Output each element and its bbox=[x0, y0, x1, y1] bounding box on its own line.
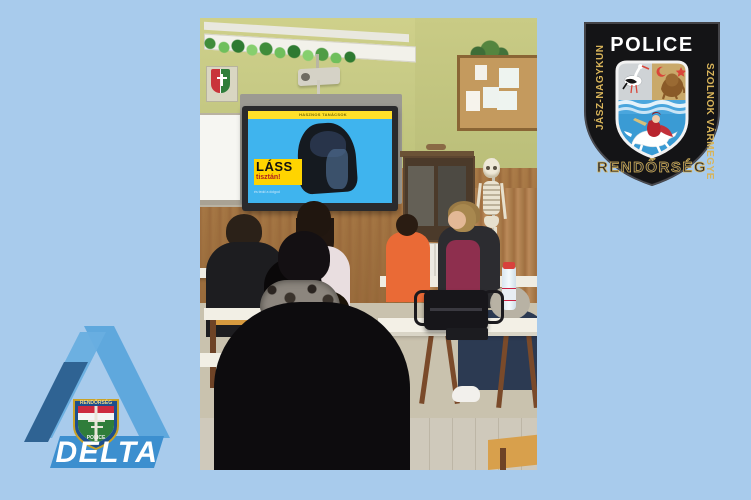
skeleton-eye bbox=[493, 166, 497, 170]
projector-lens-icon bbox=[301, 73, 310, 81]
skeleton-ribcage bbox=[483, 181, 500, 215]
desk-leg bbox=[419, 334, 434, 404]
delta-wordmark: DELTA bbox=[55, 436, 158, 469]
bulletin-poster bbox=[475, 65, 487, 80]
cabinet-top-object bbox=[426, 144, 446, 150]
classroom-presentation-photo: HASZNOS TANÁCSOK LÁSS tisztán! és tedd a… bbox=[200, 18, 537, 470]
chair-leg bbox=[500, 448, 506, 470]
bulletin-poster bbox=[483, 87, 499, 108]
badge-top-text: POLICE bbox=[610, 34, 693, 56]
foreground-person bbox=[214, 302, 410, 470]
tablet-device bbox=[446, 328, 488, 340]
audience-person-head bbox=[396, 214, 418, 236]
screen-footnote: és tedd a dolgod bbox=[254, 189, 314, 196]
handbag-zipper bbox=[430, 308, 482, 311]
coat-of-arms-cross-bar-icon bbox=[217, 77, 227, 79]
screen-figure-shadow bbox=[326, 149, 348, 189]
jasz-nagykun-szolnok-police-badge: POLICE bbox=[577, 15, 727, 190]
presentation-screen: HASZNOS TANÁCSOK LÁSS tisztán! és tedd a… bbox=[248, 111, 392, 203]
shoe bbox=[452, 386, 480, 402]
page-background: HASZNOS TANÁCSOK LÁSS tisztán! és tedd a… bbox=[0, 0, 751, 500]
badge-bottom-text: RENDŐRSÉG bbox=[597, 158, 707, 176]
screen-headline: LÁSS bbox=[256, 159, 300, 174]
badge-left-text: JÁSZ-NAGYKUN bbox=[593, 45, 606, 130]
bulletin-poster bbox=[466, 91, 480, 111]
water-bottle-label bbox=[502, 288, 516, 301]
screen-banner-text: HASZNOS TANÁCSOK bbox=[278, 111, 368, 119]
bulletin-poster bbox=[499, 68, 519, 88]
audience-person-face bbox=[448, 211, 466, 229]
screen-subhead: tisztán! bbox=[256, 173, 300, 182]
delta-program-logo: RENDŐRSÉG POLICE DELTA bbox=[22, 322, 187, 472]
delta-badge-top-text: RENDŐRSÉG bbox=[80, 398, 112, 406]
coat-of-arms-cross-icon bbox=[221, 74, 223, 86]
foreground-person-head bbox=[278, 231, 330, 283]
water-bottle-cap bbox=[503, 262, 515, 269]
skeleton-eye bbox=[486, 166, 490, 170]
bulletin-poster bbox=[497, 91, 517, 110]
